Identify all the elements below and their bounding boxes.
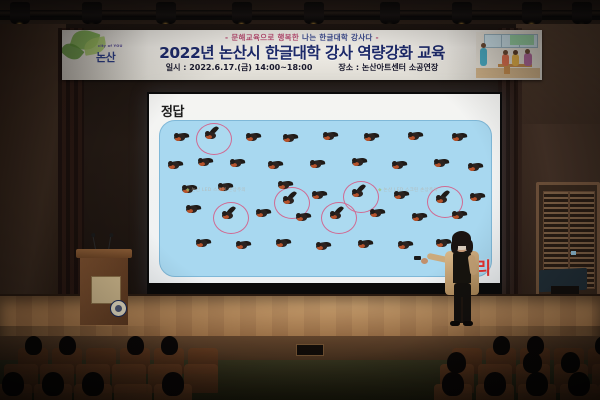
bird-icon: [412, 213, 427, 222]
bird-head: [452, 211, 457, 216]
bird-icon: [296, 213, 311, 222]
led-warning-left: ◆ 논산 LED 스크린 손상주의: [186, 187, 246, 193]
bird-icon-circled: [205, 131, 220, 140]
bird-head: [323, 132, 328, 137]
bird-icon: [198, 158, 213, 167]
bird-icon: [186, 205, 201, 214]
bird-head: [196, 239, 201, 244]
bird-head: [452, 133, 457, 138]
bird-head: [205, 131, 210, 136]
bird-icon: [256, 209, 271, 218]
podium-emblem-panel: [91, 276, 121, 304]
bird-head: [310, 160, 315, 165]
bird-icon-circled: [436, 195, 451, 204]
city-seal-icon: [110, 300, 127, 317]
bird-head: [412, 213, 417, 218]
stage-spotlight-icon: [452, 2, 472, 24]
bird-icon: [358, 240, 373, 249]
stage-spotlight-icon: [156, 2, 176, 24]
bird-head: [283, 134, 288, 139]
chair-icon: [504, 67, 510, 74]
bird-icon-circled: [352, 189, 367, 198]
bird-head: [276, 239, 281, 244]
chalkboard-icon: [510, 35, 534, 45]
bird-icon: [196, 239, 211, 248]
bird-icon: [370, 209, 385, 218]
bird-icon: [276, 239, 291, 248]
bird-head: [222, 211, 227, 216]
bird-head: [186, 205, 191, 210]
nonsan-mark-icon: ◆: [186, 188, 190, 193]
bird-icon-circled: [283, 196, 298, 205]
podium-body: [80, 258, 128, 325]
bird-head: [370, 209, 375, 214]
bird-icon: [352, 158, 367, 167]
audience-vignette: [0, 326, 600, 400]
bird-icon: [470, 193, 485, 202]
bird-icon: [278, 181, 293, 190]
bird-icon: [310, 160, 325, 169]
bird-head: [283, 196, 288, 201]
bird-icon: [268, 161, 283, 170]
podium: [76, 249, 132, 325]
bird-head: [436, 195, 441, 200]
bird-head: [174, 133, 179, 138]
bird-icon: [283, 134, 298, 143]
bird-icon: [168, 161, 183, 170]
stage-spotlight-icon: [572, 2, 592, 24]
bird-icon: [246, 133, 261, 142]
stage-spotlight-icon: [522, 2, 542, 24]
stage-spotlight-icon: [232, 2, 252, 24]
bird-icon: [236, 241, 251, 250]
presenter-hair-side: [451, 240, 458, 253]
bird-head: [312, 191, 317, 196]
stage-spotlight-icon: [10, 2, 30, 24]
bird-head: [398, 241, 403, 246]
led-warning-left-text: 논산 LED 스크린 손상주의: [191, 188, 245, 193]
stage-spotlight-icon: [82, 2, 102, 24]
presentation-remote-icon: [414, 256, 421, 260]
bird-head: [296, 213, 301, 218]
led-warning-right-text: 논산 LED 스크린 손상주의: [383, 188, 437, 193]
bird-icon: [392, 161, 407, 170]
banner-title: 2022년 논산시 한글대학 강사 역량강화 교육: [62, 41, 542, 63]
classroom-illustration: [476, 32, 540, 78]
bird-icon-circled: [330, 211, 345, 220]
auditorium-photo: city of YOU 논산 - 문해교육으로 행복한 나는 한글대학 강사다 …: [0, 0, 600, 400]
indicator-light-icon: [571, 251, 576, 255]
student-figure-icon: [524, 53, 532, 66]
bird-icon: [230, 159, 245, 168]
presenter: [441, 231, 483, 327]
bird-head: [468, 163, 473, 168]
bird-icon: [408, 132, 423, 141]
bird-head: [358, 240, 363, 245]
student-figure-icon: [512, 54, 519, 66]
nonsan-mark-icon: ◆: [378, 188, 382, 193]
bird-icon: [174, 133, 189, 142]
presenter-leg-split: [461, 297, 463, 323]
bird-head: [352, 189, 357, 194]
bird-head: [352, 158, 357, 163]
bird-icon: [468, 163, 483, 172]
bird-head: [246, 133, 251, 138]
bird-head: [408, 132, 413, 137]
bird-icon: [316, 242, 331, 251]
bird-head: [168, 161, 173, 166]
bird-icon: [364, 133, 379, 142]
bird-icon: [452, 133, 467, 142]
bird-head: [434, 159, 439, 164]
bird-icon: [434, 159, 449, 168]
bird-head: [230, 159, 235, 164]
teacher-figure-icon: [480, 48, 487, 66]
bird-head: [278, 181, 283, 186]
bird-head: [256, 209, 261, 214]
presenter-hand: [421, 258, 428, 264]
presenter-hair-side: [466, 240, 473, 253]
slide-title: 정답: [161, 101, 184, 120]
bird-icon: [323, 132, 338, 141]
stage-spotlight-icon: [304, 2, 324, 24]
bird-head: [330, 211, 335, 216]
bird-head: [364, 133, 369, 138]
student-figure-icon: [502, 54, 509, 66]
podium-top: [76, 249, 132, 258]
banner-date: 일시 : 2022.6.17.(금) 14:00~18:00: [166, 62, 313, 73]
bird-icon: [398, 241, 413, 250]
banner-subline: 일시 : 2022.6.17.(금) 14:00~18:00 장소 : 논산아트…: [62, 62, 542, 73]
bird-head: [236, 241, 241, 246]
bird-icon: [452, 211, 467, 220]
stage-spotlight-icon: [380, 2, 400, 24]
event-banner: city of YOU 논산 - 문해교육으로 행복한 나는 한글대학 강사다 …: [62, 30, 542, 80]
bird-head: [268, 161, 273, 166]
bird-head: [316, 242, 321, 247]
bird-icon: [312, 191, 327, 200]
banner-place: 장소 : 논산아트센터 소공연장: [338, 62, 438, 73]
bird-head: [198, 158, 203, 163]
led-warning-right: ◆ 논산 LED 스크린 손상주의: [378, 187, 438, 193]
bird-icon-circled: [222, 211, 237, 220]
bird-head: [392, 161, 397, 166]
bird-head: [470, 193, 475, 198]
